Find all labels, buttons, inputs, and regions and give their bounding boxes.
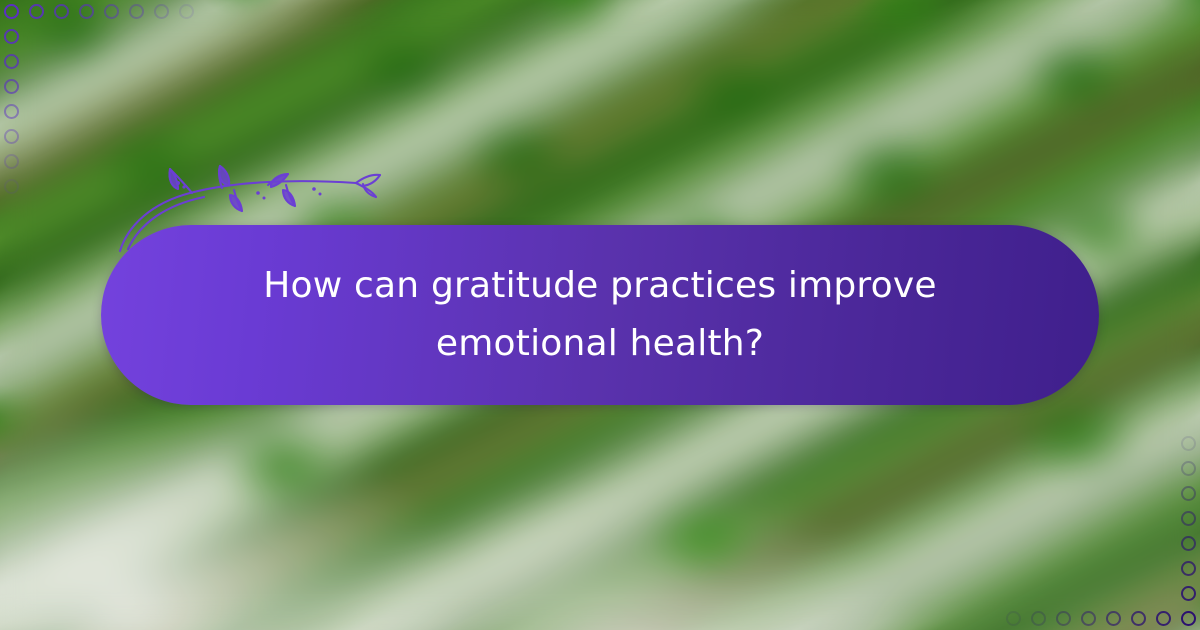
question-card-canvas: How can gratitude practices improve emot…: [0, 0, 1200, 630]
question-text: How can gratitude practices improve emot…: [190, 257, 1010, 373]
question-pill: How can gratitude practices improve emot…: [101, 225, 1099, 405]
